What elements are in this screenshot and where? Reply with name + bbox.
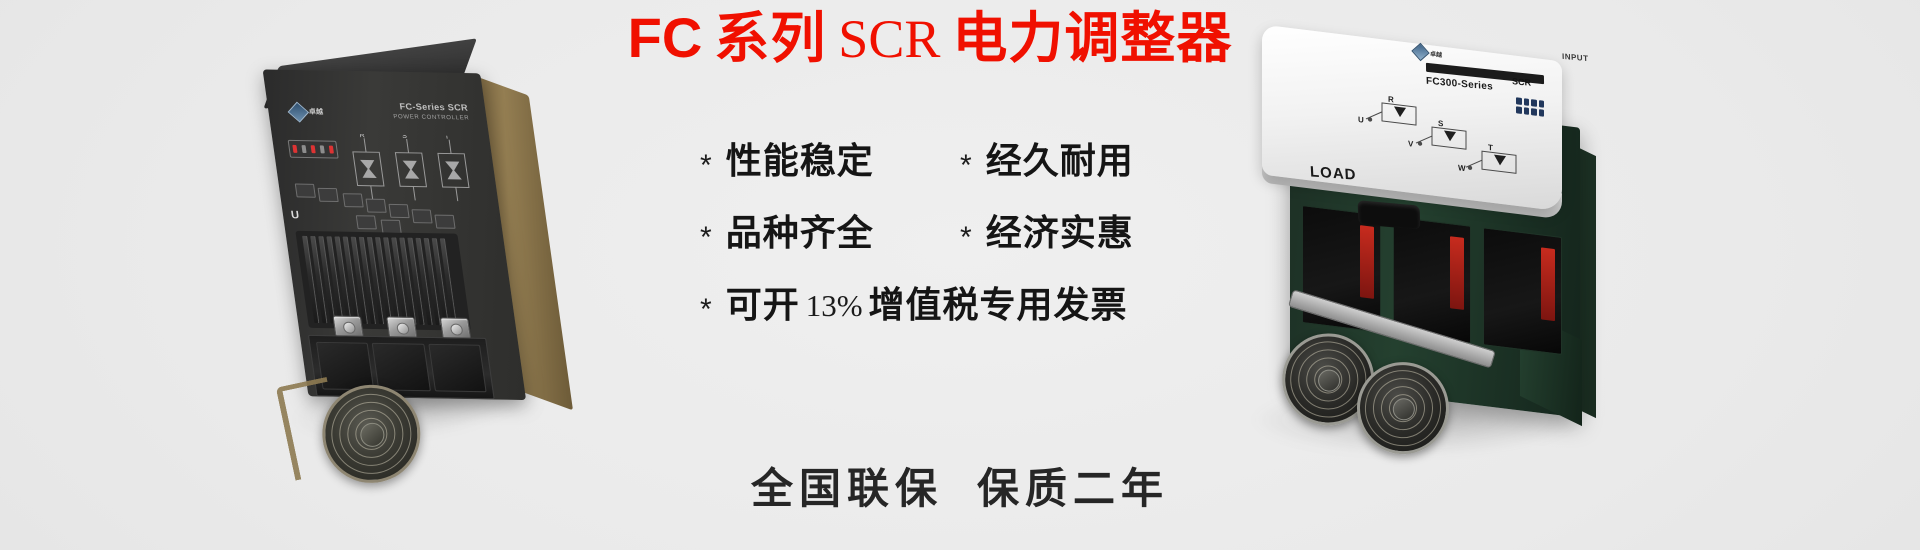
module-window — [1483, 227, 1562, 355]
terminal-block-graphic — [290, 181, 479, 236]
feature-item-invoice: * 可开 13% 增值税专用发票 — [700, 288, 1128, 324]
feature-row-invoice: * 可开 13% 增值税专用发票 — [700, 284, 1220, 328]
svg-text:R: R — [359, 134, 365, 139]
svg-text:R: R — [1388, 95, 1394, 105]
indicator-dots — [1516, 97, 1544, 116]
model-line-2: POWER CONTROLLER — [337, 111, 470, 124]
warranty-text: 全国联保保质二年 — [700, 455, 1220, 516]
feature-row: * 品种齐全 * 经济实惠 — [700, 212, 1220, 256]
feature-label: 经济实惠 — [986, 216, 1134, 252]
product-image-left: 卓越 FC-Series SCR POWER CONTROLLER — [223, 22, 638, 488]
warranty-part-1: 全国联保 — [751, 464, 943, 513]
diamond-logo-icon — [1411, 42, 1429, 60]
promo-banner: 卓越 FC-Series SCR POWER CONTROLLER — [0, 0, 1920, 550]
feature-item: * 性能稳定 — [700, 144, 960, 180]
asterisk-bullet-icon: * — [700, 223, 712, 253]
svg-text:U: U — [1358, 115, 1364, 125]
feature-row: * 性能稳定 * 经久耐用 — [700, 140, 1220, 184]
feature-label: 性能稳定 — [726, 144, 874, 180]
diamond-logo-icon — [288, 101, 309, 122]
title-series: 系列 — [714, 6, 826, 70]
asterisk-bullet-icon: * — [700, 295, 712, 325]
title-fc: FC — [628, 6, 703, 69]
lower-module-bay — [308, 335, 495, 400]
feature-label: 品种齐全 — [726, 216, 874, 252]
invoice-prefix: 可开 — [726, 288, 800, 324]
feature-item: * 经济实惠 — [960, 216, 1134, 252]
feature-item: * 经久耐用 — [960, 144, 1134, 180]
load-label: LOAD — [1310, 163, 1357, 183]
led-indicator-strip — [288, 140, 339, 159]
feature-list: * 性能稳定 * 经久耐用 * 品种齐全 * 经济实惠 * 可开 13% — [700, 140, 1220, 356]
title-scr: SCR — [838, 9, 940, 69]
asterisk-bullet-icon: * — [960, 151, 972, 181]
svg-text:S: S — [1438, 119, 1444, 129]
feature-item: * 品种齐全 — [700, 216, 960, 252]
warranty-part-2: 保质二年 — [977, 464, 1169, 513]
svg-text:W: W — [1458, 163, 1466, 173]
asterisk-bullet-icon: * — [960, 223, 972, 253]
asterisk-bullet-icon: * — [700, 151, 712, 181]
product-scr-label: SCR — [1512, 76, 1531, 88]
product-model-label: FC-Series SCR POWER CONTROLLER — [336, 100, 471, 130]
input-label: INPUT — [1562, 52, 1589, 63]
svg-text:S: S — [402, 134, 408, 140]
invoice-tax-rate: 13% — [800, 288, 869, 324]
feature-label: 经久耐用 — [986, 144, 1134, 180]
fan-grill-icon — [324, 386, 419, 481]
brand-text: 卓越 — [308, 107, 324, 117]
product-image-right: 卓越 FC300-Series SCR INPUT LOAD — [1190, 25, 1650, 465]
svg-text:V: V — [1408, 139, 1414, 149]
svg-text:T: T — [1488, 143, 1493, 153]
brand-text: 卓越 — [1430, 48, 1442, 58]
product-brand-logo: 卓越 — [290, 104, 337, 121]
invoice-suffix: 增值税专用发票 — [869, 288, 1128, 324]
svg-text:T: T — [444, 134, 450, 141]
